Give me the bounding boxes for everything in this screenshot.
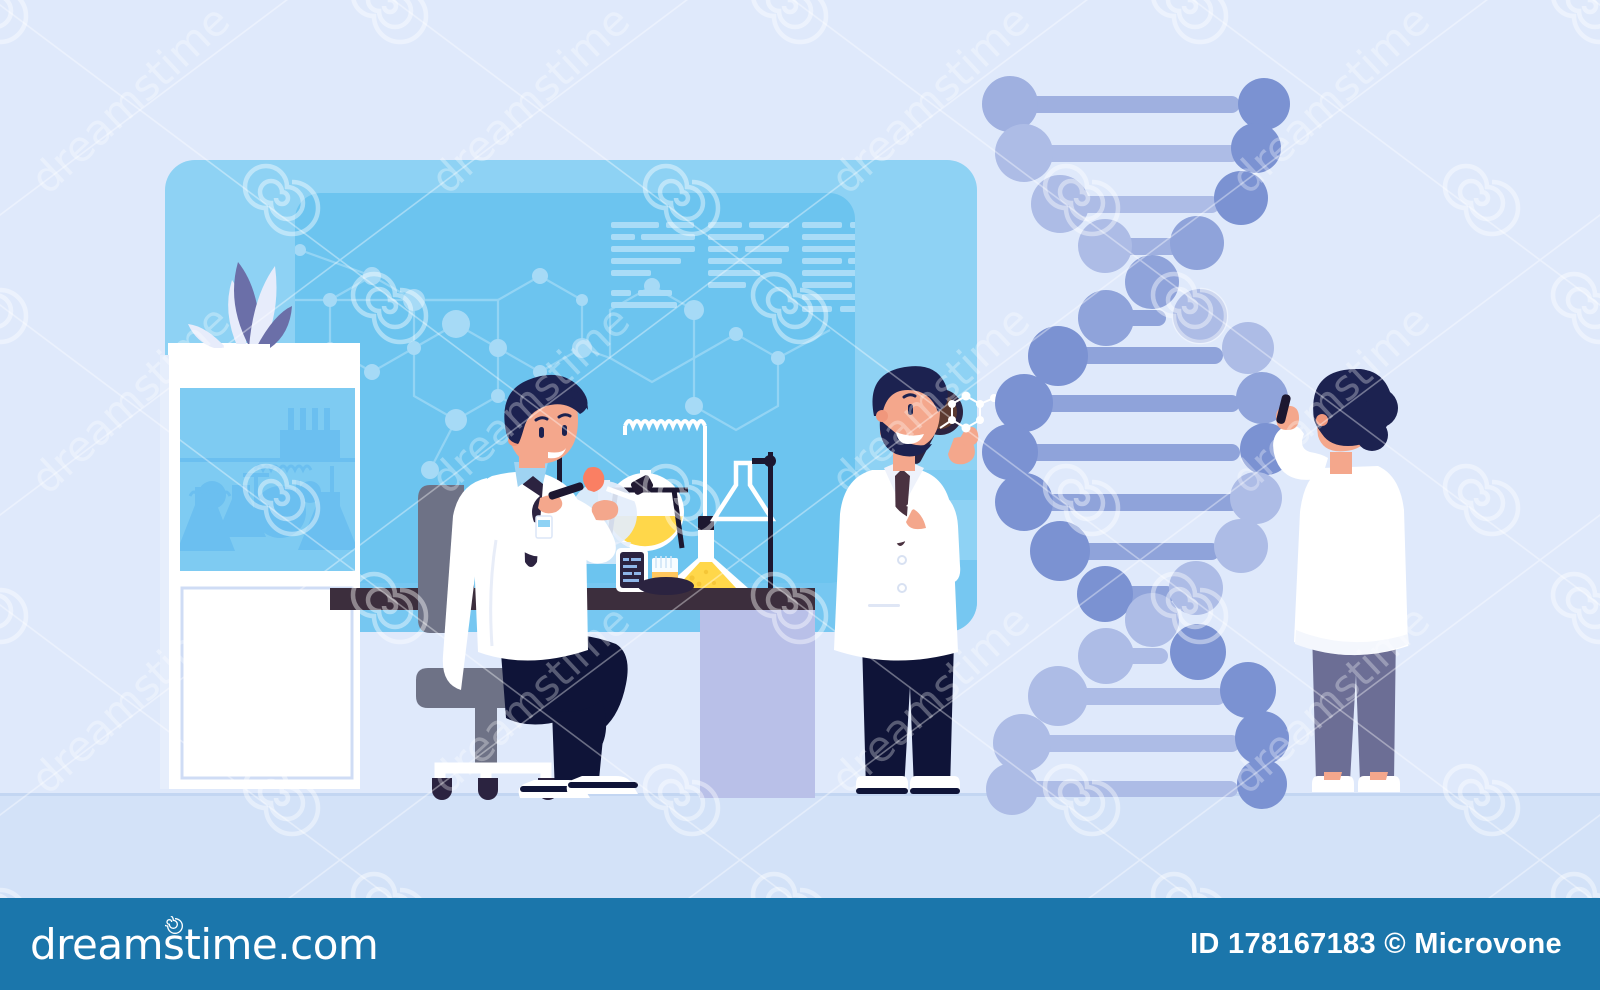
coil-clamp-icon: [698, 516, 714, 530]
scientist-left-hand: [592, 500, 618, 520]
dreamstime-logo[interactable]: dreamstime.com: [30, 920, 378, 969]
laboratory-illustration: [0, 0, 1600, 900]
plant-pot: [224, 344, 270, 364]
female-coat: [1294, 466, 1408, 655]
brand-name: dreamstime.com: [30, 920, 378, 969]
chair-cylinder: [475, 708, 497, 770]
desk-instrument-base: [638, 577, 694, 595]
footer-bar: dreamstime.com ID 178167183 © Microvone: [0, 898, 1600, 990]
glassware-cabinet[interactable]: [160, 343, 360, 789]
dna-rung: [1125, 593, 1179, 647]
spiral-logo-icon: [165, 916, 185, 936]
floor: [0, 795, 1600, 900]
dna-rung: [1125, 255, 1179, 309]
image-credit: ID 178167183 © Microvone: [1190, 928, 1562, 961]
illustration-stage: dreamstime dreamstime.com ID 178167183 ©…: [0, 0, 1600, 990]
